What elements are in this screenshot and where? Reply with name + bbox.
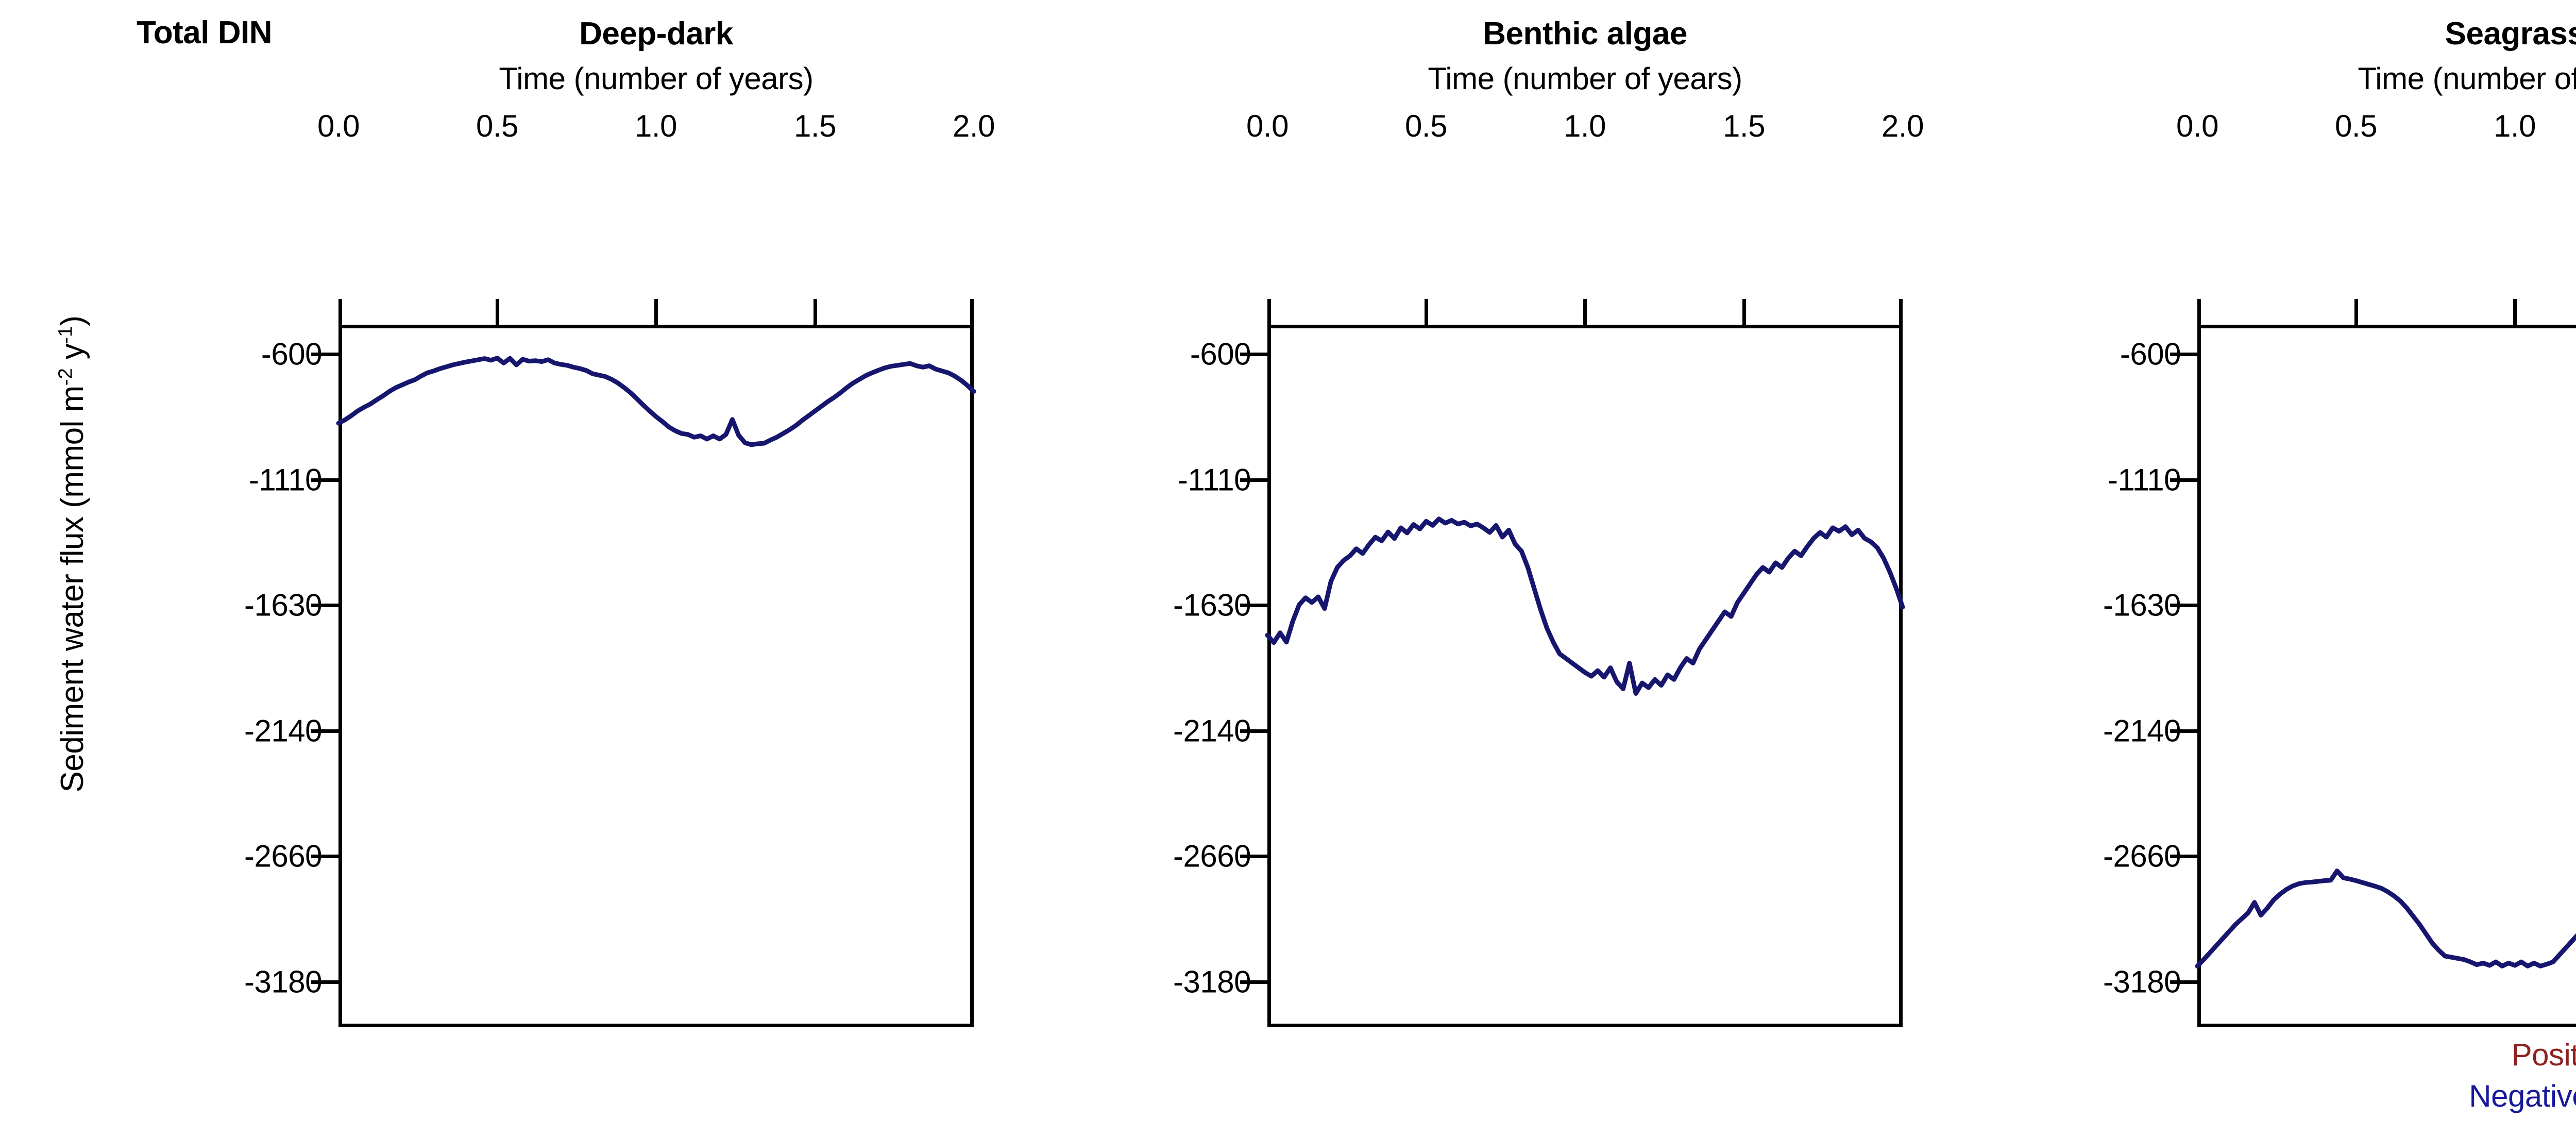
y-tick-label-1: -1110 [1096, 462, 1251, 498]
y-tick-mark-0 [311, 353, 338, 356]
y-tick-mark-3 [311, 729, 338, 733]
y-tick-mark-3 [1240, 729, 1267, 733]
y-axis-title-wrap: Sediment water flux (mmol m-2 y-1) [49, 152, 95, 956]
y-tick-mark-1 [311, 478, 338, 482]
y-tick-label-3: -2140 [1096, 713, 1251, 749]
y-tick-mark-2 [1240, 604, 1267, 607]
annotation-negative: Negative = to bottom water [2197, 1078, 2576, 1114]
y-tick-label-0: -600 [2026, 337, 2181, 372]
x-tick-label-1: 0.5 [1405, 108, 1447, 144]
y-tick-label-1: -1110 [2026, 462, 2181, 498]
y-axis-title-mid: y [55, 344, 90, 368]
y-tick-label-2: -1630 [167, 588, 322, 623]
y-tick-mark-2 [2170, 604, 2197, 607]
y-axis-title: Sediment water flux (mmol m-2 y-1) [54, 316, 91, 793]
x-tick-label-0: 0.0 [2176, 108, 2218, 144]
y-tick-mark-4 [1240, 855, 1267, 858]
x-tick-mark-0 [338, 299, 342, 326]
x-tick-label-2: 1.0 [1564, 108, 1606, 144]
panel-title-benthic-algae: Benthic algae [1267, 15, 1903, 52]
y-tick-label-3: -2140 [2026, 713, 2181, 749]
panel-deep-dark: Deep-dark Time (number of years) 0.0 0.5… [338, 0, 974, 1136]
y-tick-label-5: -3180 [1096, 964, 1251, 1000]
y-tick-label-3: -2140 [167, 713, 322, 749]
data-series-line [1267, 519, 1903, 694]
y-tick-mark-5 [311, 980, 338, 984]
y-tick-label-5: -3180 [167, 964, 322, 1000]
y-tick-label-2: -1630 [1096, 588, 1251, 623]
y-tick-mark-0 [2170, 353, 2197, 356]
plot-line-panel-2 [1267, 325, 1903, 1027]
panel-benthic-algae: Benthic algae Time (number of years) 0.0… [1267, 0, 1903, 1136]
x-tick-mark-3 [1742, 299, 1746, 326]
y-tick-label-2: -1630 [2026, 588, 2181, 623]
figure-panel-grid: Total DIN Sediment water flux (mmol m-2 … [0, 0, 2576, 1136]
y-tick-mark-1 [1240, 478, 1267, 482]
y-tick-label-4: -2660 [167, 839, 322, 874]
x-tick-mark-1 [496, 299, 499, 326]
x-tick-label-4: 2.0 [1882, 108, 1924, 144]
data-series-line [2197, 871, 2576, 966]
x-tick-mark-4 [970, 299, 974, 326]
y-tick-label-1: -1110 [167, 462, 322, 498]
y-tick-mark-5 [1240, 980, 1267, 984]
x-tick-mark-2 [2513, 299, 2517, 326]
y-axis-exponent-1: -2 [54, 368, 76, 386]
x-tick-label-1: 0.5 [476, 108, 518, 144]
x-tick-mark-0 [1267, 299, 1271, 326]
x-tick-mark-2 [654, 299, 658, 326]
x-tick-label-4: 2.0 [953, 108, 995, 144]
y-tick-mark-4 [311, 855, 338, 858]
x-tick-mark-0 [2197, 299, 2201, 326]
x-axis-title-panel-1: Time (number of years) [338, 61, 974, 96]
y-tick-mark-3 [2170, 729, 2197, 733]
panel-title-deep-dark: Deep-dark [338, 15, 974, 52]
panel-seagrass: Seagrass Time (number of years) 0.0 0.5 … [2197, 0, 2576, 1136]
x-tick-label-3: 1.5 [1723, 108, 1765, 144]
plot-line-panel-1 [338, 325, 974, 1027]
panel-title-seagrass: Seagrass [2197, 15, 2576, 52]
x-tick-mark-2 [1583, 299, 1587, 326]
row-label-total-din: Total DIN [137, 14, 272, 51]
x-tick-mark-1 [1425, 299, 1428, 326]
y-tick-label-0: -600 [167, 337, 322, 372]
x-tick-label-2: 1.0 [2494, 108, 2536, 144]
y-tick-mark-0 [1240, 353, 1267, 356]
x-tick-mark-1 [2354, 299, 2358, 326]
x-axis-title-panel-3: Time (number of years) [2197, 61, 2576, 96]
y-tick-label-4: -2660 [2026, 839, 2181, 874]
y-tick-mark-4 [2170, 855, 2197, 858]
data-series-line [338, 358, 974, 445]
x-tick-label-1: 0.5 [2335, 108, 2377, 144]
y-axis-title-main: Sediment water flux (mmol m [55, 386, 90, 792]
x-tick-label-2: 1.0 [635, 108, 677, 144]
y-tick-label-0: -600 [1096, 337, 1251, 372]
x-tick-label-3: 1.5 [794, 108, 836, 144]
plot-line-panel-3 [2197, 325, 2576, 1027]
y-tick-label-5: -3180 [2026, 964, 2181, 1000]
annotation-positive: Positive = into sediment [2197, 1037, 2576, 1073]
y-tick-label-4: -2660 [1096, 839, 1251, 874]
x-tick-mark-4 [1899, 299, 1903, 326]
y-axis-title-tail: ) [55, 316, 90, 326]
x-tick-label-0: 0.0 [317, 108, 360, 144]
x-tick-mark-3 [814, 299, 817, 326]
y-tick-mark-2 [311, 604, 338, 607]
y-axis-exponent-2: -1 [54, 326, 76, 344]
x-tick-label-0: 0.0 [1246, 108, 1289, 144]
x-axis-title-panel-2: Time (number of years) [1267, 61, 1903, 96]
y-tick-mark-1 [2170, 478, 2197, 482]
y-tick-mark-5 [2170, 980, 2197, 984]
